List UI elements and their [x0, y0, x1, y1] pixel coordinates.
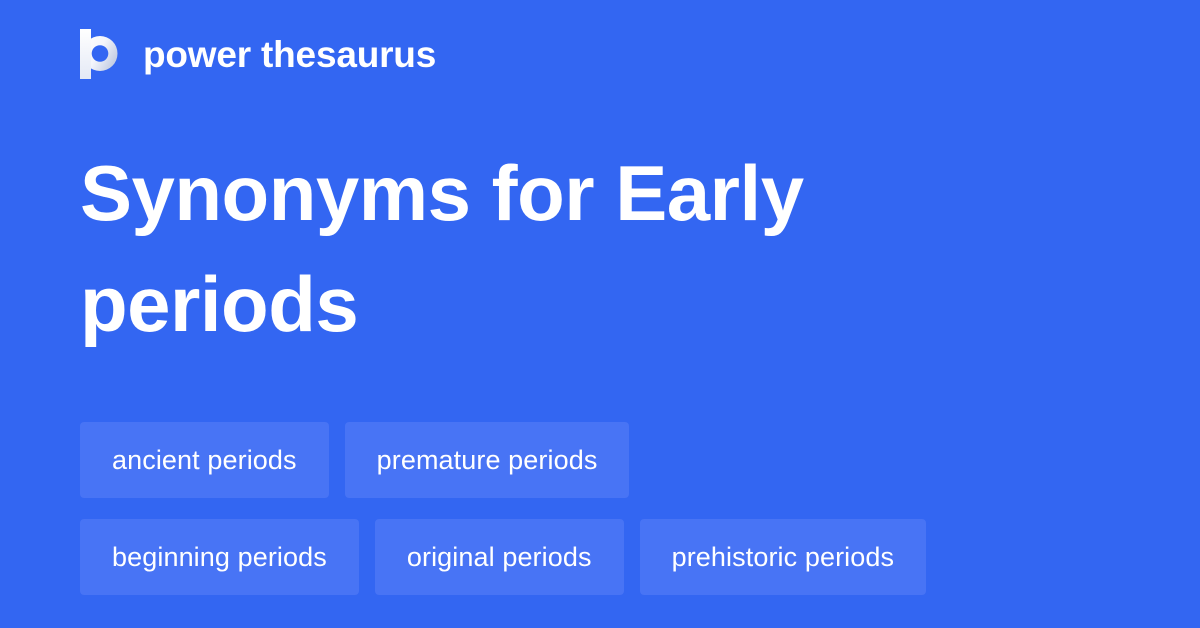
synonym-chip[interactable]: prehistoric periods [640, 519, 927, 595]
brand-name: Power Thesaurus [143, 36, 436, 73]
page-title: Synonyms for Early periods [80, 138, 920, 360]
power-thesaurus-b-logo-icon [80, 29, 124, 79]
synonym-chip[interactable]: beginning periods [80, 519, 359, 595]
synonym-chip[interactable]: original periods [375, 519, 624, 595]
brand-header[interactable]: Power Thesaurus [80, 28, 436, 80]
synonym-chip-area: ancient periods premature periods beginn… [80, 422, 1140, 595]
synonym-row: ancient periods premature periods [80, 422, 1140, 498]
synonym-row: beginning periods original periods prehi… [80, 519, 1140, 595]
synonym-chip[interactable]: premature periods [345, 422, 630, 498]
synonym-chip[interactable]: ancient periods [80, 422, 329, 498]
